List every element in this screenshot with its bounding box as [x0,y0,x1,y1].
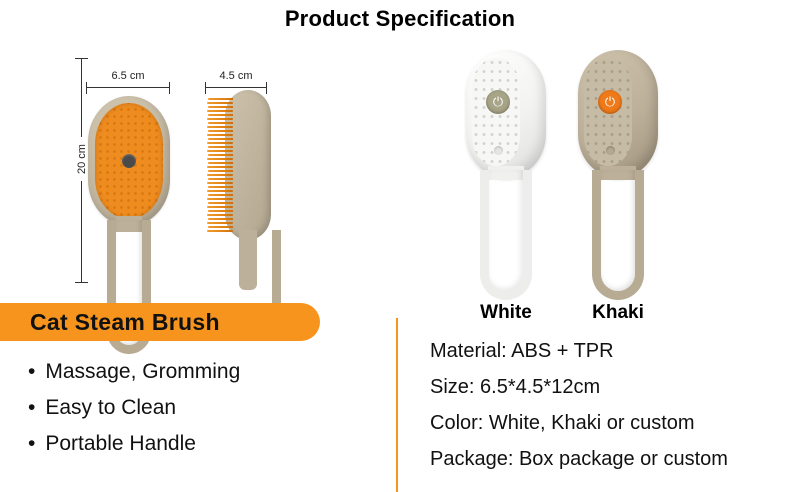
variant-white-handle [480,170,532,300]
page-title: Product Specification [0,6,800,32]
width-dimension-cap-right [169,81,170,94]
product-name-text: Cat Steam Brush [0,309,220,336]
variant-white-nozzle [494,146,503,155]
height-dimension-cap-bottom [75,282,88,283]
product-variant-white[interactable]: ⏻ White [458,50,554,300]
depth-dimension-label: 4.5 cm [205,70,267,82]
color-variants: ⏻ White ⏻ Khaki [430,40,800,320]
product-name-badge: Cat Steam Brush [0,303,320,341]
product-variant-khaki[interactable]: ⏻ Khaki [570,50,666,300]
width-dimension-line [86,87,170,88]
variant-white-label: White [458,302,554,324]
depth-dimension-line [205,87,267,88]
depth-dimension: 4.5 cm [205,76,267,90]
variant-khaki-handle [592,170,644,300]
power-glyph: ⏻ [605,96,615,109]
list-item: Massage, Gromming [28,360,378,384]
width-dimension-cap-left [86,81,87,94]
brush-side-bristles [207,98,233,232]
feature-list: Massage, Gromming Easy to Clean Portable… [28,360,378,468]
width-dimension-label: 6.5 cm [86,70,170,82]
spec-divider [396,318,398,492]
spec-color: Color: White, Khaki or custom [430,412,800,435]
list-item: Portable Handle [28,432,378,456]
product-dimension-diagram: 20 cm 6.5 cm 4.5 cm [0,34,390,294]
power-icon[interactable]: ⏻ [486,90,510,114]
height-dimension-label: 20 cm [76,137,88,181]
spec-list: Material: ABS + TPR Size: 6.5*4.5*12cm C… [430,340,800,484]
width-dimension: 6.5 cm [86,76,170,90]
brush-front-view [88,96,170,296]
spec-size: Size: 6.5*4.5*12cm [430,376,800,399]
height-dimension-cap-top [75,58,88,59]
brush-front-center-nozzle [122,154,136,168]
power-glyph: ⏻ [493,96,503,109]
variant-khaki-label: Khaki [570,302,666,324]
variant-khaki-nozzle [606,146,615,155]
spec-package: Package: Box package or custom [430,448,800,471]
brush-side-view [203,90,295,320]
spec-material: Material: ABS + TPR [430,340,800,363]
power-icon[interactable]: ⏻ [598,90,622,114]
list-item: Easy to Clean [28,396,378,420]
